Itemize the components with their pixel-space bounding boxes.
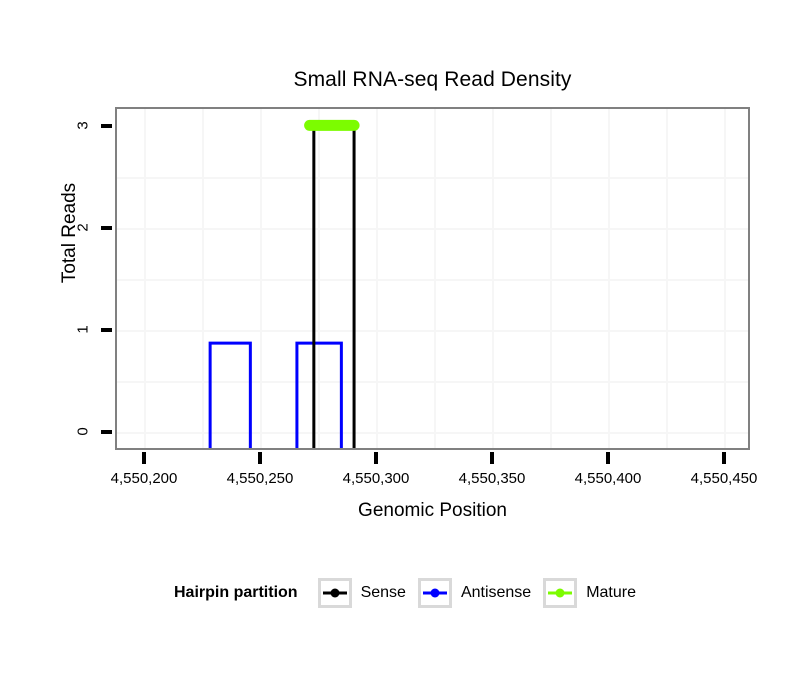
series-antisense-line — [170, 343, 703, 450]
y-tick-mark-0 — [101, 430, 112, 434]
legend-label-sense: Sense — [361, 584, 406, 602]
legend-item-mature[interactable]: Mature — [543, 578, 636, 608]
x-tick-mark-2 — [374, 452, 378, 464]
legend-label-mature: Mature — [586, 584, 636, 602]
x-tick-label-1: 4,550,250 — [205, 470, 315, 487]
chart-title: Small RNA-seq Read Density — [115, 68, 750, 92]
x-tick-label-5: 4,550,450 — [669, 470, 779, 487]
x-tick-mark-4 — [606, 452, 610, 464]
x-tick-label-3: 4,550,350 — [437, 470, 547, 487]
y-tick-label-0: 0 — [75, 419, 92, 445]
legend-label-antisense: Antisense — [461, 584, 531, 602]
x-tick-label-2: 4,550,300 — [321, 470, 431, 487]
legend-title: Hairpin partition — [174, 584, 298, 602]
y-tick-mark-3 — [101, 124, 112, 128]
x-tick-label-4: 4,550,400 — [553, 470, 663, 487]
legend: Hairpin partition Sense Antisense Mature — [0, 578, 810, 608]
x-tick-mark-3 — [490, 452, 494, 464]
y-tick-mark-1 — [101, 328, 112, 332]
y-tick-label-2: 2 — [75, 215, 92, 241]
plot-panel — [115, 107, 750, 450]
legend-key-antisense-icon — [418, 578, 452, 608]
series-plot-area — [117, 109, 750, 450]
y-tick-label-1: 1 — [75, 317, 92, 343]
legend-key-sense-icon — [318, 578, 352, 608]
x-tick-label-0: 4,550,200 — [89, 470, 199, 487]
legend-item-sense[interactable]: Sense — [318, 578, 406, 608]
legend-item-antisense[interactable]: Antisense — [418, 578, 531, 608]
chart-figure: Small RNA-seq Read Density Total Reads G… — [0, 0, 810, 690]
x-tick-mark-5 — [722, 452, 726, 464]
y-tick-mark-2 — [101, 226, 112, 230]
x-axis-label: Genomic Position — [115, 500, 750, 522]
y-tick-label-3: 3 — [75, 113, 92, 139]
x-tick-mark-0 — [142, 452, 146, 464]
x-tick-mark-1 — [258, 452, 262, 464]
legend-key-mature-icon — [543, 578, 577, 608]
